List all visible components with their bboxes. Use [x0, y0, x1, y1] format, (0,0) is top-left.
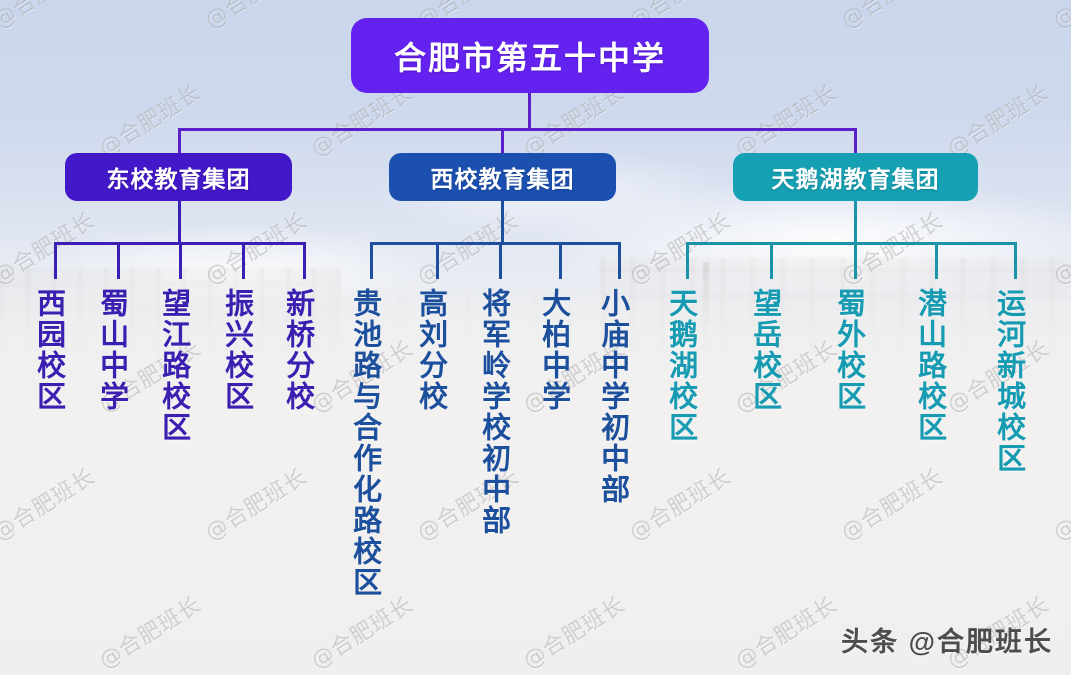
node-root-school[interactable]: 合肥市第五十中学 [351, 18, 709, 93]
connector-west-stem [501, 201, 504, 244]
leaf-swan-1[interactable]: 天鹅湖校区 [665, 288, 695, 443]
leaf-east-2[interactable]: 蜀山中学 [96, 288, 126, 412]
connector-swan-bus [686, 242, 1017, 245]
leaf-swan-2[interactable]: 望岳校区 [749, 288, 779, 412]
connector-swan-drop-5 [1014, 242, 1017, 279]
leaf-west-1[interactable]: 贵池路与合作化路校区 [349, 288, 379, 598]
connector-east-drop-1 [54, 242, 57, 279]
connector-east-drop-4 [242, 242, 245, 279]
connector-east-drop-5 [303, 242, 306, 279]
connector-west-drop-2 [436, 242, 439, 279]
connector-swan-drop-4 [935, 242, 938, 279]
connector-west-drop-1 [370, 242, 373, 279]
connector-swan-drop-3 [854, 242, 857, 279]
leaf-east-1[interactable]: 西园校区 [33, 288, 63, 412]
byline-credit: 头条 @合肥班长 [841, 620, 1053, 659]
connector-east-drop-3 [179, 242, 182, 279]
connector-swan-drop-1 [686, 242, 689, 279]
leaf-swan-4[interactable]: 潜山路校区 [914, 288, 944, 443]
connector-west-bus [370, 242, 621, 245]
node-group-east[interactable]: 东校教育集团 [65, 153, 292, 201]
connector-east-drop-2 [117, 242, 120, 279]
connector-west-drop-5 [618, 242, 621, 279]
connector-west-drop-4 [559, 242, 562, 279]
connector-root-stem [528, 93, 531, 130]
node-group-swan[interactable]: 天鹅湖教育集团 [733, 153, 978, 201]
leaf-east-4[interactable]: 振兴校区 [221, 288, 251, 412]
leaf-west-5[interactable]: 小庙中学初中部 [597, 288, 627, 505]
leaf-swan-5[interactable]: 运河新城校区 [993, 288, 1023, 474]
node-group-west[interactable]: 西校教育集团 [389, 153, 616, 201]
connector-swan-stem [854, 201, 857, 244]
leaf-east-5[interactable]: 新桥分校 [282, 288, 312, 412]
leaf-east-3[interactable]: 望江路校区 [158, 288, 188, 443]
connector-east-stem [178, 201, 181, 244]
leaf-swan-3[interactable]: 蜀外校区 [833, 288, 863, 412]
org-chart-canvas: @合肥班长@合肥班长@合肥班长@合肥班长@合肥班长@合肥班长@合肥班长@合肥班长… [0, 0, 1071, 675]
connector-swan-drop-2 [770, 242, 773, 279]
connector-west-drop-3 [499, 242, 502, 279]
leaf-west-3[interactable]: 将军岭学校初中部 [478, 288, 508, 536]
connector-root-bus [178, 128, 857, 131]
leaf-west-2[interactable]: 高刘分校 [415, 288, 445, 412]
leaf-west-4[interactable]: 大柏中学 [538, 288, 568, 412]
